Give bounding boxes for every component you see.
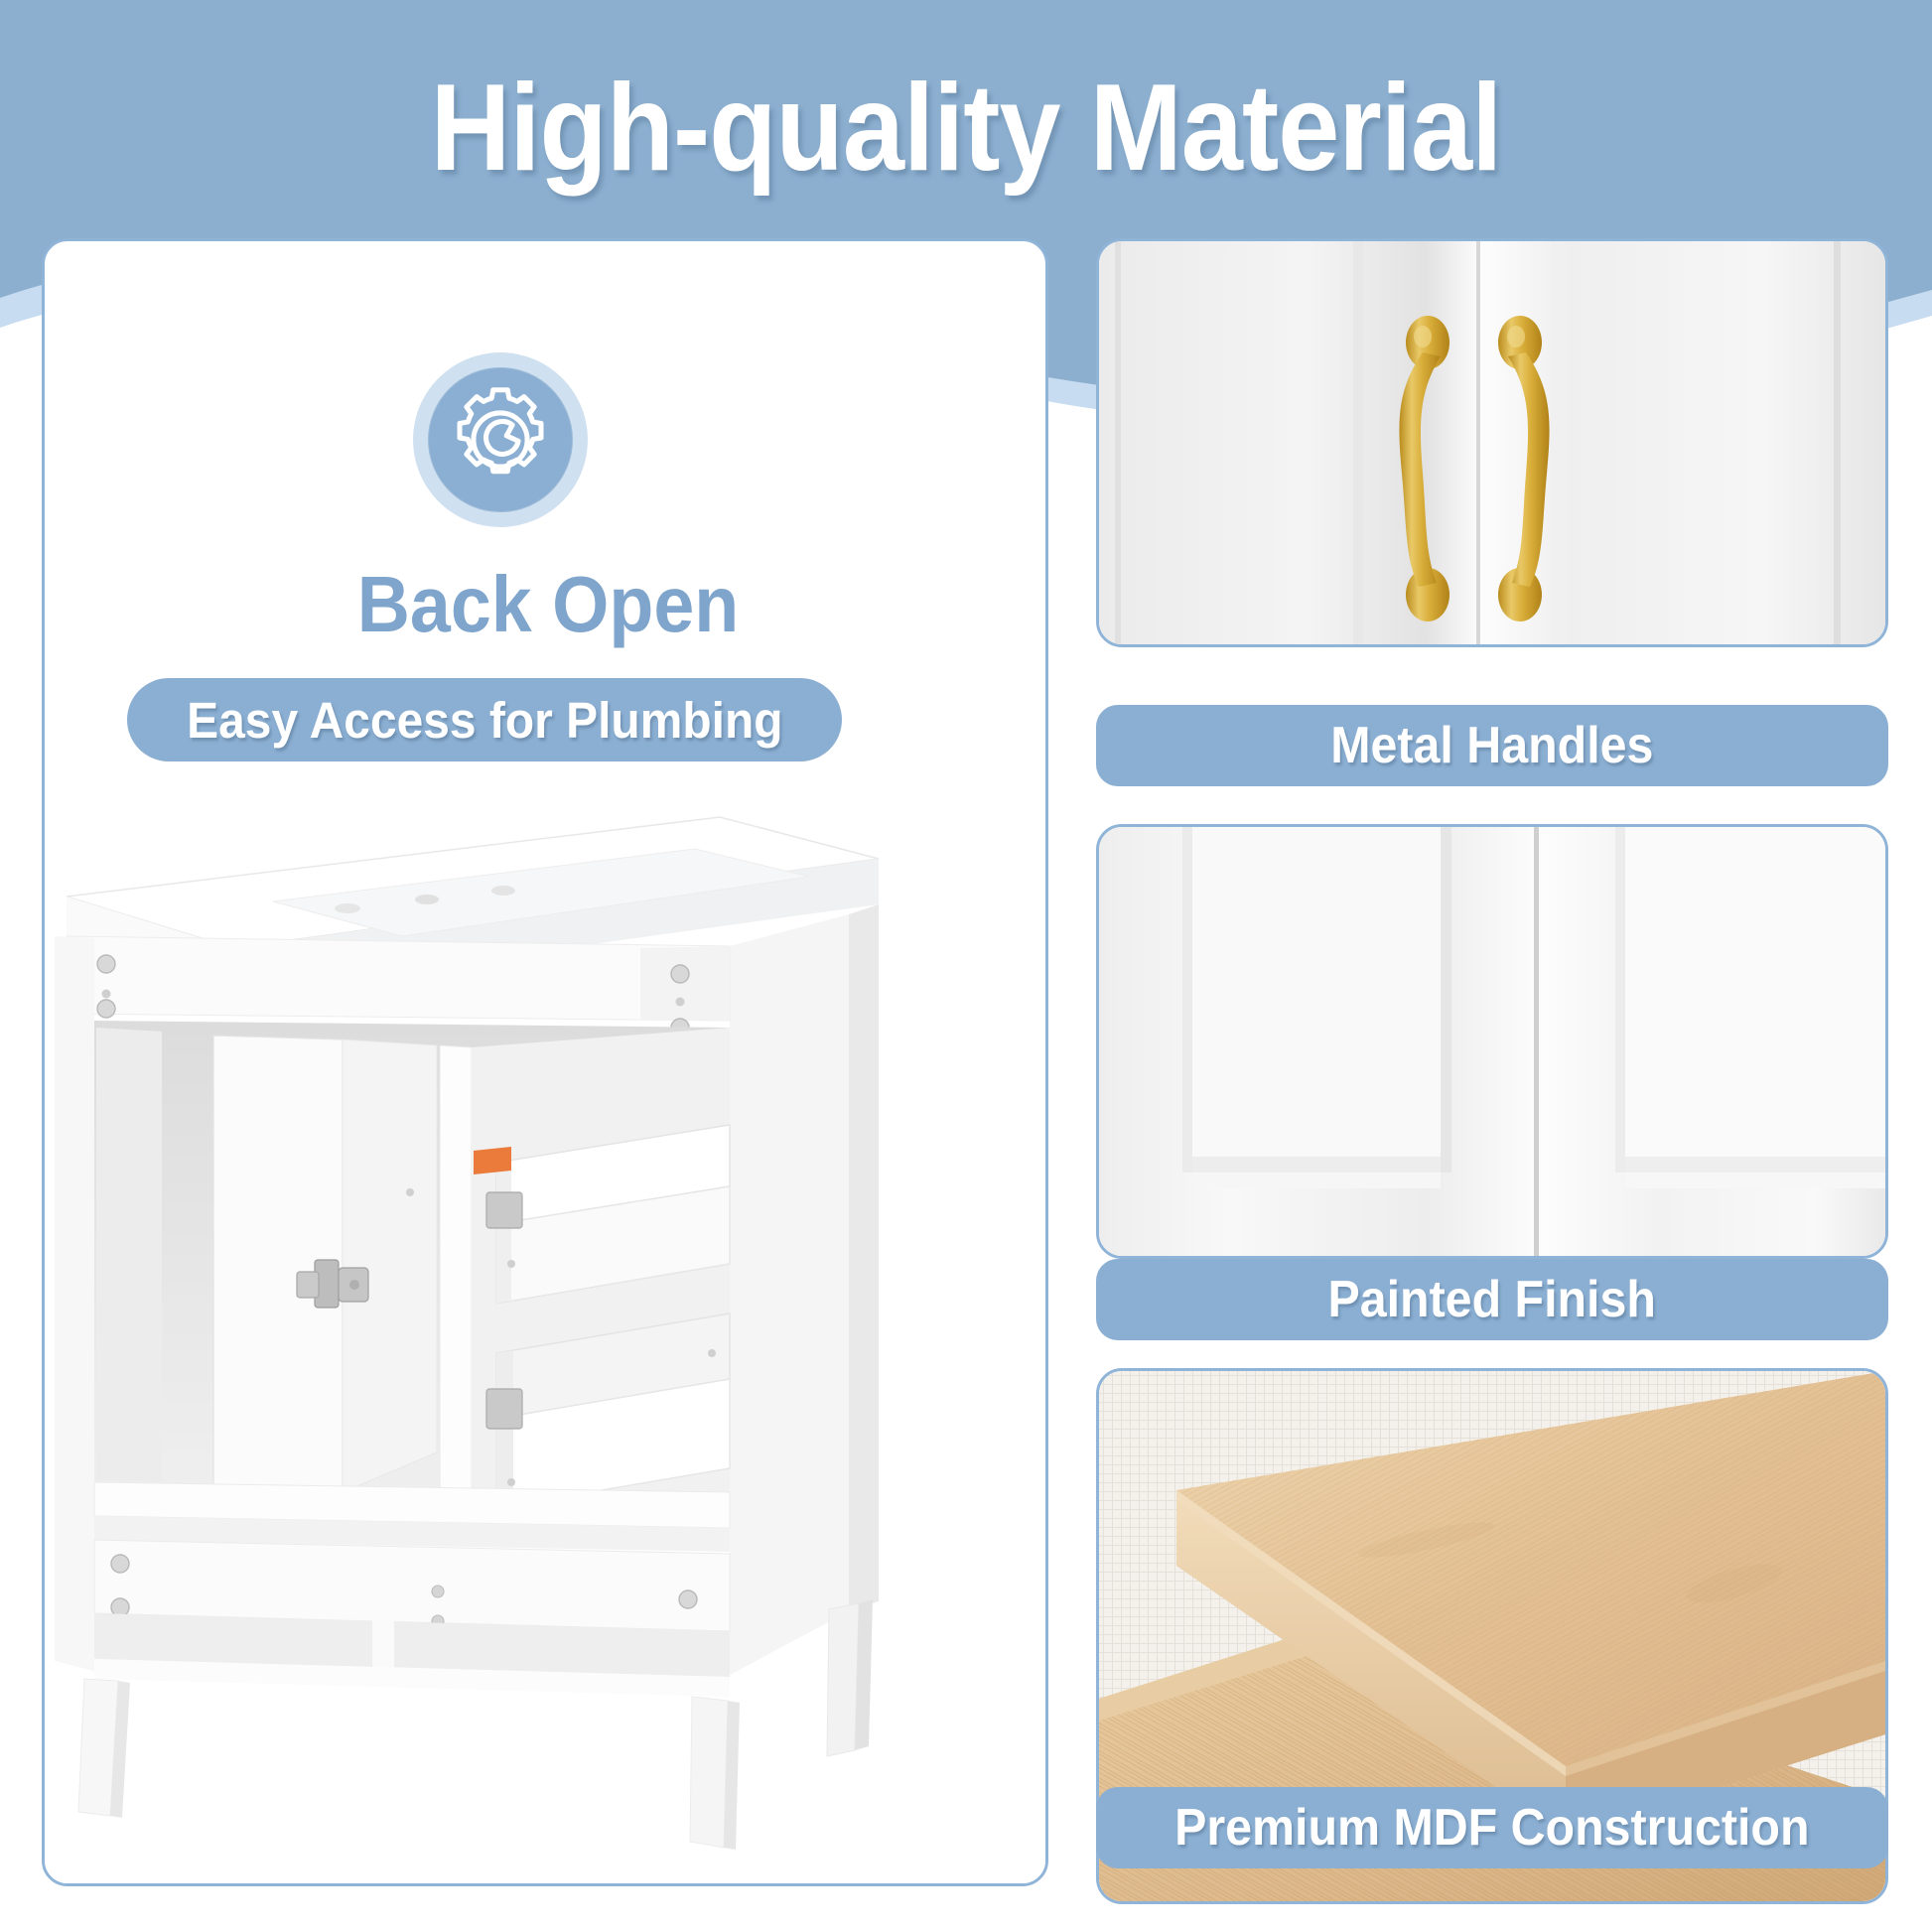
easy-access-pill-label: Easy Access for Plumbing [187,691,782,750]
white-painted-cabinet-doors-photo [1099,827,1885,1256]
cabinet-doors-gold-handles-photo [1099,241,1885,644]
back-open-heading: Back Open [85,559,1012,650]
card-painted-finish [1096,824,1888,1259]
card-metal-handles [1096,238,1888,647]
left-feature-panel: Back Open Easy Access for Plumbing [42,238,1048,1886]
caption-premium-mdf: Premium MDF Construction [1096,1787,1888,1868]
easy-access-pill: Easy Access for Plumbing [127,678,842,761]
gear-wrench-icon [428,367,573,512]
caption-painted-finish: Painted Finish [1096,1259,1888,1340]
caption-metal-handles: Metal Handles [1096,705,1888,786]
caption-painted-finish-label: Painted Finish [1328,1270,1656,1329]
caption-premium-mdf-label: Premium MDF Construction [1174,1798,1809,1858]
page-title: High-quality Material [96,58,1835,199]
caption-metal-handles-label: Metal Handles [1330,716,1653,775]
bathroom-vanity-back-open-photo [45,797,1048,1886]
back-open-icon-badge [413,352,588,527]
